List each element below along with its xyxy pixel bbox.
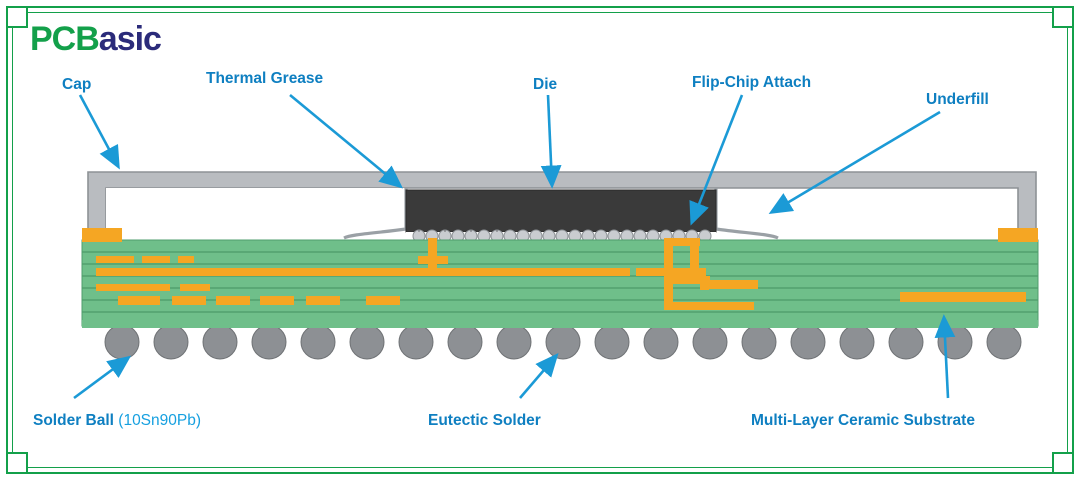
solder-ball-row	[105, 325, 1021, 359]
substrate-bottom-edge	[82, 320, 1038, 328]
label-die: Die	[533, 76, 557, 94]
leader-underfill	[772, 112, 940, 212]
leader-solder-ball	[74, 358, 128, 398]
label-thermal-grease: Thermal Grease	[206, 70, 323, 88]
label-cap: Cap	[62, 76, 91, 94]
diagram-canvas: PCBasic	[0, 0, 1080, 480]
package-cross-section-illustration	[0, 0, 1080, 480]
label-flip-chip-attach: Flip-Chip Attach	[692, 74, 811, 92]
label-multi-layer-ceramic-substrate: Multi-Layer Ceramic Substrate	[751, 412, 975, 430]
leader-cap	[80, 95, 118, 166]
die-block	[406, 190, 716, 232]
leader-eutectic-solder	[520, 356, 556, 398]
ceramic-substrate	[82, 240, 1038, 326]
label-underfill: Underfill	[926, 91, 989, 109]
label-solder-ball-main: Solder Ball	[33, 412, 118, 429]
label-solder-ball-alloy: (10Sn90Pb)	[118, 412, 201, 429]
label-solder-ball: Solder Ball (10Sn90Pb)	[33, 412, 201, 430]
label-eutectic-solder: Eutectic Solder	[428, 412, 541, 430]
